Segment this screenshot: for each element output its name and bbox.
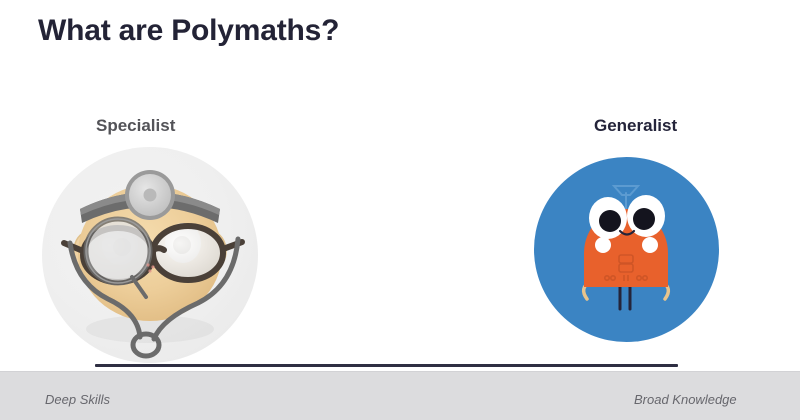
axis-caption-right: Broad Knowledge	[634, 392, 737, 407]
page-title: What are Polymaths?	[38, 14, 339, 48]
doctor-avatar	[42, 147, 258, 363]
orange-creature-avatar	[534, 157, 719, 342]
slide-canvas: What are Polymaths?	[0, 0, 800, 420]
spectrum-axis-line	[95, 364, 678, 367]
column-label-specialist: Specialist	[96, 116, 175, 136]
column-label-generalist: Generalist	[594, 116, 677, 136]
axis-caption-left: Deep Skills	[45, 392, 110, 407]
